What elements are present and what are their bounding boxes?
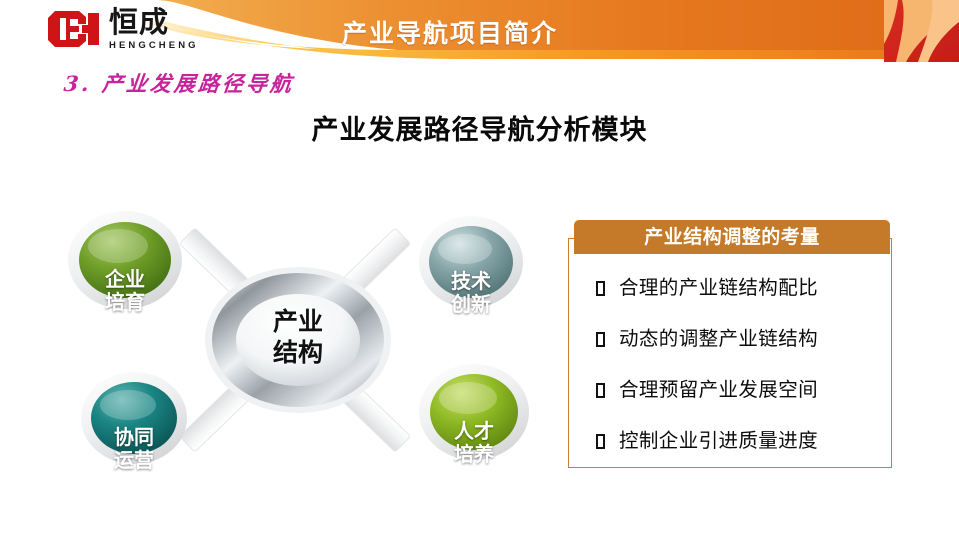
consideration-panel: 产业结构调整的考量 合理的产业链结构配比 动态的调整产业链结构 合理预留产业发展… — [568, 220, 894, 470]
square-bullet-icon — [596, 434, 605, 449]
panel-item-list: 合理的产业链结构配比 动态的调整产业链结构 合理预留产业发展空间 控制企业引进质… — [568, 262, 892, 466]
square-bullet-icon — [596, 281, 605, 296]
panel-header: 产业结构调整的考量 — [574, 220, 890, 254]
corner-decoration — [884, 0, 959, 62]
page-title: 产业发展路径导航分析模块 — [0, 108, 959, 147]
list-item[interactable]: 合理的产业链结构配比 — [568, 262, 892, 313]
list-item[interactable]: 合理预留产业发展空间 — [568, 364, 892, 415]
diagram-canvas — [40, 190, 560, 490]
square-bullet-icon — [596, 383, 605, 398]
list-item-label: 合理的产业链结构配比 — [619, 262, 818, 313]
list-item-label: 动态的调整产业链结构 — [619, 313, 818, 364]
logo-name-en: HENGCHENG — [109, 41, 199, 51]
node-hub-industry-structure — [205, 267, 391, 413]
node-tech-innovation — [419, 216, 523, 308]
logo-name-cn: 恒成 — [109, 8, 199, 37]
logo: 恒成 HENGCHENG — [48, 8, 199, 51]
hengcheng-logo-icon — [48, 9, 100, 49]
node-talent-training — [419, 364, 529, 460]
list-item[interactable]: 控制企业引进质量进度 — [568, 415, 892, 466]
list-item[interactable]: 动态的调整产业链结构 — [568, 313, 892, 364]
list-item-label: 控制企业引进质量进度 — [619, 415, 818, 466]
section-label: 3. 产业发展路径导航 — [62, 68, 295, 98]
node-collaborative-operation — [81, 372, 187, 464]
list-item-label: 合理预留产业发展空间 — [619, 364, 818, 415]
industry-structure-diagram: 协同 运营 企业 培育 技术 创新 人才 培养 产业 结构 — [40, 190, 560, 490]
node-enterprise-cultivation — [68, 211, 182, 309]
square-bullet-icon — [596, 332, 605, 347]
